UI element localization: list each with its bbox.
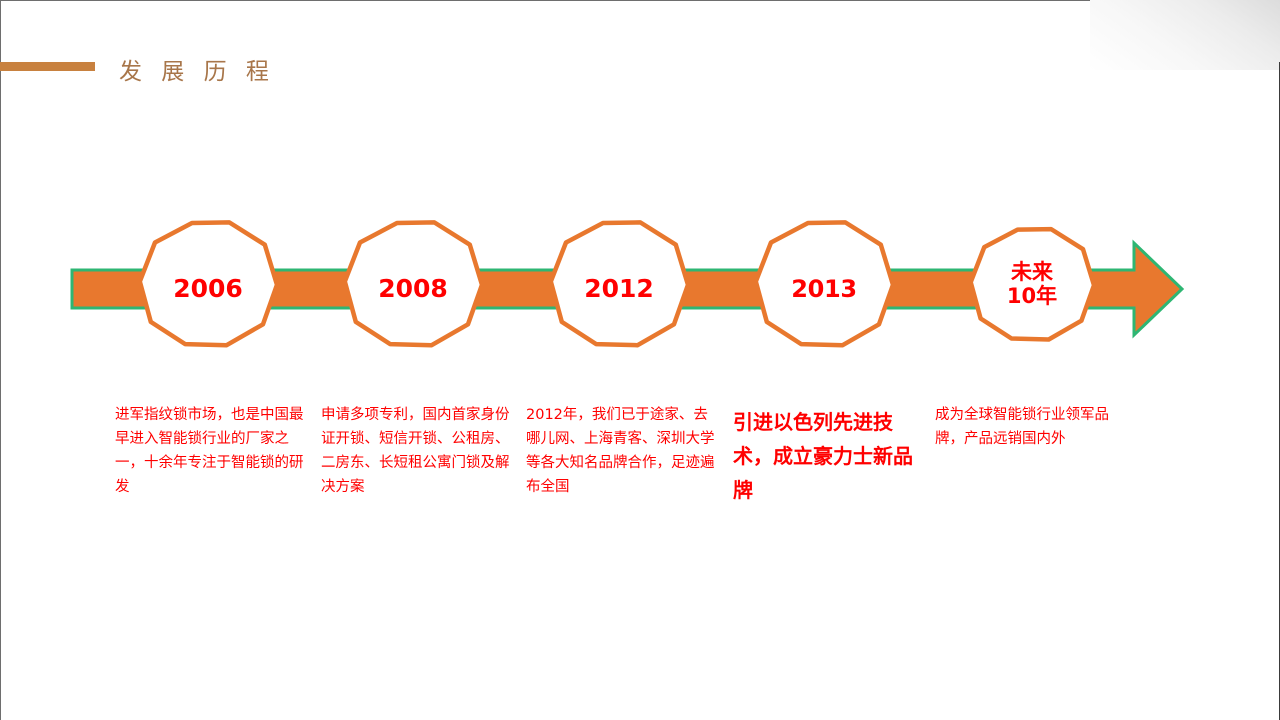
timeline-node-shape-2[interactable] bbox=[345, 222, 482, 345]
timeline-node-shape-4[interactable] bbox=[756, 222, 893, 345]
timeline-node-shape-3[interactable] bbox=[551, 222, 688, 345]
timeline-arrow-svg bbox=[0, 0, 1280, 720]
timeline-description-3: 2012年，我们已于途家、去哪儿网、上海青客、深圳大学等各大知名品牌合作，足迹遍… bbox=[526, 404, 722, 500]
timeline-graphic: 2006 2008 2012 2013 未来 10年 进军指纹锁市场，也是中国最… bbox=[0, 0, 1280, 720]
timeline-node-shape-1[interactable] bbox=[140, 222, 277, 345]
timeline-description-2: 申请多项专利，国内首家身份证开锁、短信开锁、公租房、二房东、长短租公寓门锁及解决… bbox=[321, 404, 517, 500]
timeline-description-4: 引进以色列先进技术，成立豪力士新品牌 bbox=[733, 405, 913, 507]
timeline-description-5: 成为全球智能锁行业领军品牌，产品远销国内外 bbox=[935, 404, 1135, 452]
timeline-node-shape-5[interactable] bbox=[971, 229, 1094, 339]
timeline-description-1: 进军指纹锁市场，也是中国最早进入智能锁行业的厂家之一，十余年专注于智能锁的研发 bbox=[115, 404, 311, 500]
slide-canvas: 发 展 历 程 2006 2008 2012 2013 未来 10年 进军指纹锁… bbox=[0, 0, 1280, 720]
